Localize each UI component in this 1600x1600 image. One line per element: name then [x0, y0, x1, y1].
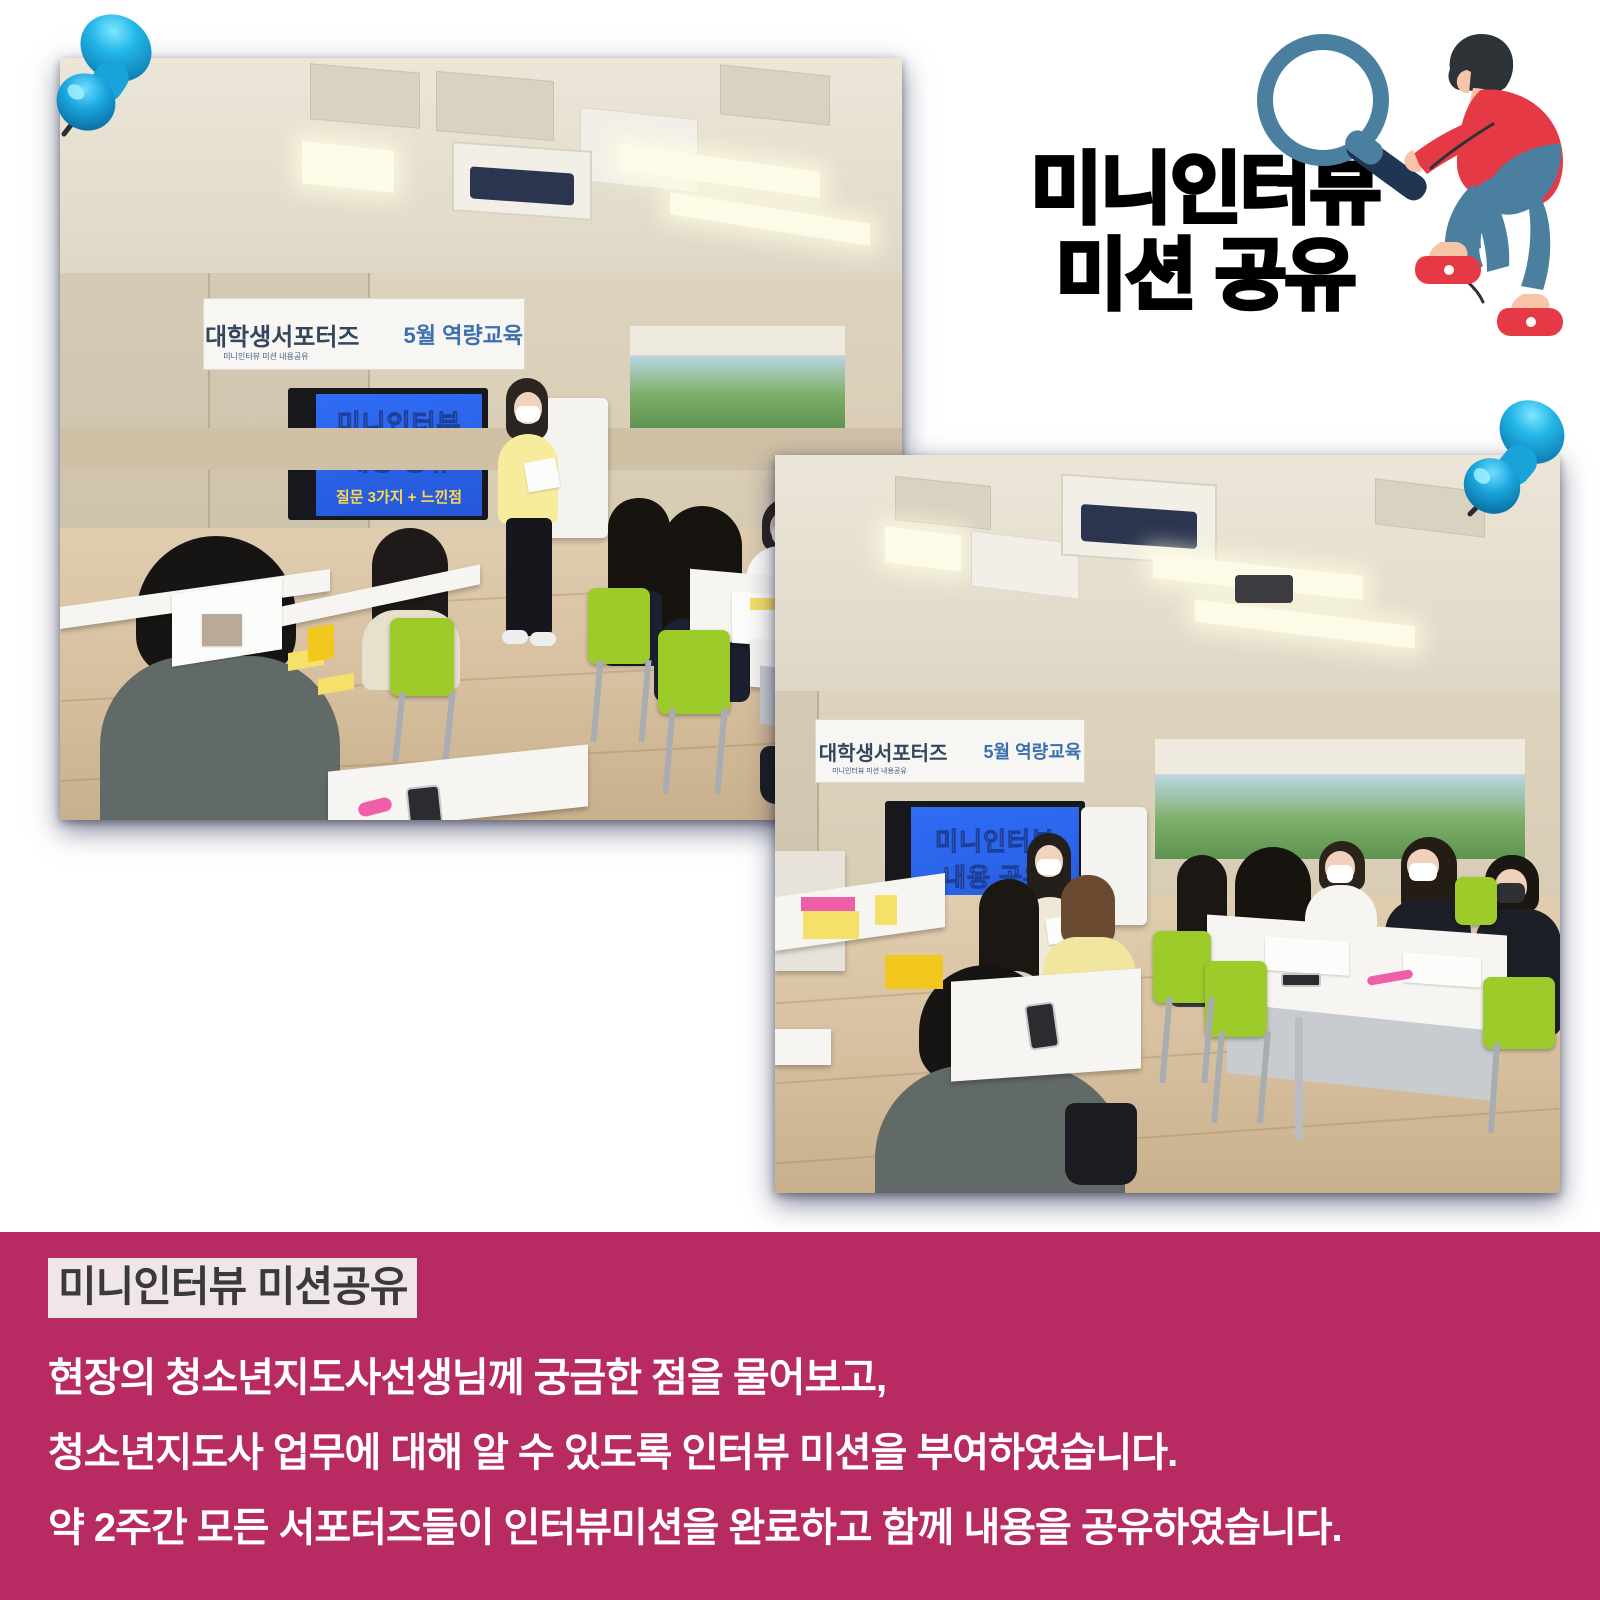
magnifier-person-illustration [1245, 18, 1595, 348]
presenter-mask [516, 406, 540, 422]
person-figure-illustration [1404, 34, 1563, 336]
window-blind [630, 326, 845, 356]
window-blind [1155, 739, 1525, 775]
sticky-note [801, 897, 855, 911]
caption-line-2: 청소년지도사 업무에 대해 알 수 있도록 인터뷰 미션을 부여하였습니다. [48, 1420, 1177, 1478]
magnifying-glass-icon [1265, 42, 1431, 205]
chair-back [658, 630, 730, 714]
banner-sub-1: 미니인터뷰 미션 내용공유 [832, 766, 907, 776]
classroom-scene-2: 대학생서포터즈 5월 역량교육 미니인터뷰 미션 내용공유 미니인터뷰 내용 공… [775, 455, 1560, 1193]
paper-sheet [1265, 936, 1349, 976]
paper-sheet [1403, 952, 1481, 987]
ceiling-projector [452, 141, 592, 221]
caption-line-1: 현장의 청소년지도사선생님께 궁금한 점을 물어보고, [48, 1345, 886, 1403]
backpack [1065, 1103, 1137, 1185]
banner-run-text: 5월 역량교육 [404, 318, 524, 350]
screen-line-3: 질문 3가지 + 느낀점 [336, 486, 462, 507]
banner-main-text: 대학생서포터즈 [819, 737, 948, 766]
table-leg [1295, 1017, 1303, 1141]
event-banner: 대학생서포터즈 5월 역량교육 미니인터뷰 미션 내용공유 [203, 298, 525, 370]
sticky-note [803, 911, 859, 939]
participant-mask [1495, 883, 1525, 903]
banner-main-text: 대학생서포터즈 [205, 317, 360, 352]
pencil-case [1281, 973, 1321, 987]
window [630, 354, 845, 428]
card-root: 미니인터뷰 미션 공유 [0, 0, 1600, 1600]
chair-back [1455, 877, 1497, 925]
chair-back [390, 618, 454, 696]
ceiling-projector [1061, 474, 1217, 567]
foreground-shirt [100, 656, 340, 820]
sticky-note [875, 895, 897, 925]
sticky-note [885, 955, 943, 989]
caption-line-3: 약 2주간 모든 서포터즈들이 인터뷰미션을 완료하고 함께 내용을 공유하였습… [48, 1495, 1342, 1553]
presenter [492, 378, 566, 658]
presenter-paper [524, 457, 561, 492]
chair-back [1483, 977, 1555, 1049]
photo-group-discussion: 대학생서포터즈 5월 역량교육 미니인터뷰 미션 내용공유 미니인터뷰 내용 공… [775, 455, 1560, 1193]
ceiling-tile [436, 71, 554, 141]
smartphone [405, 784, 444, 820]
wall-panel [60, 273, 210, 563]
presenter-shoe [502, 630, 528, 644]
banner-run-text: 5월 역량교육 [984, 738, 1082, 764]
participant-mask [1409, 863, 1437, 881]
participant-mask [1327, 865, 1353, 883]
chair-back [1153, 931, 1211, 1003]
desk [775, 1029, 831, 1065]
presenter-shoe [530, 632, 556, 646]
event-banner: 대학생서포터즈 5월 역량교육 미니인터뷰 미션 내용공유 [815, 719, 1085, 783]
presenter-pants [506, 518, 552, 636]
ceiling-tile [310, 63, 420, 129]
caption-heading: 미니인터뷰 미션공유 [48, 1258, 417, 1318]
sticky-note [308, 624, 334, 663]
smartphone [1024, 1001, 1060, 1051]
presenter-mask [1037, 859, 1061, 875]
participant-hair [1061, 875, 1115, 945]
banner-sub-1: 미니인터뷰 미션 내용공유 [223, 351, 308, 362]
caption-band: 미니인터뷰 미션공유 현장의 청소년지도사선생님께 궁금한 점을 물어보고, 청… [0, 1232, 1600, 1600]
photo-print [202, 614, 242, 646]
chair-back [588, 588, 650, 664]
wall-speaker [1235, 575, 1293, 603]
